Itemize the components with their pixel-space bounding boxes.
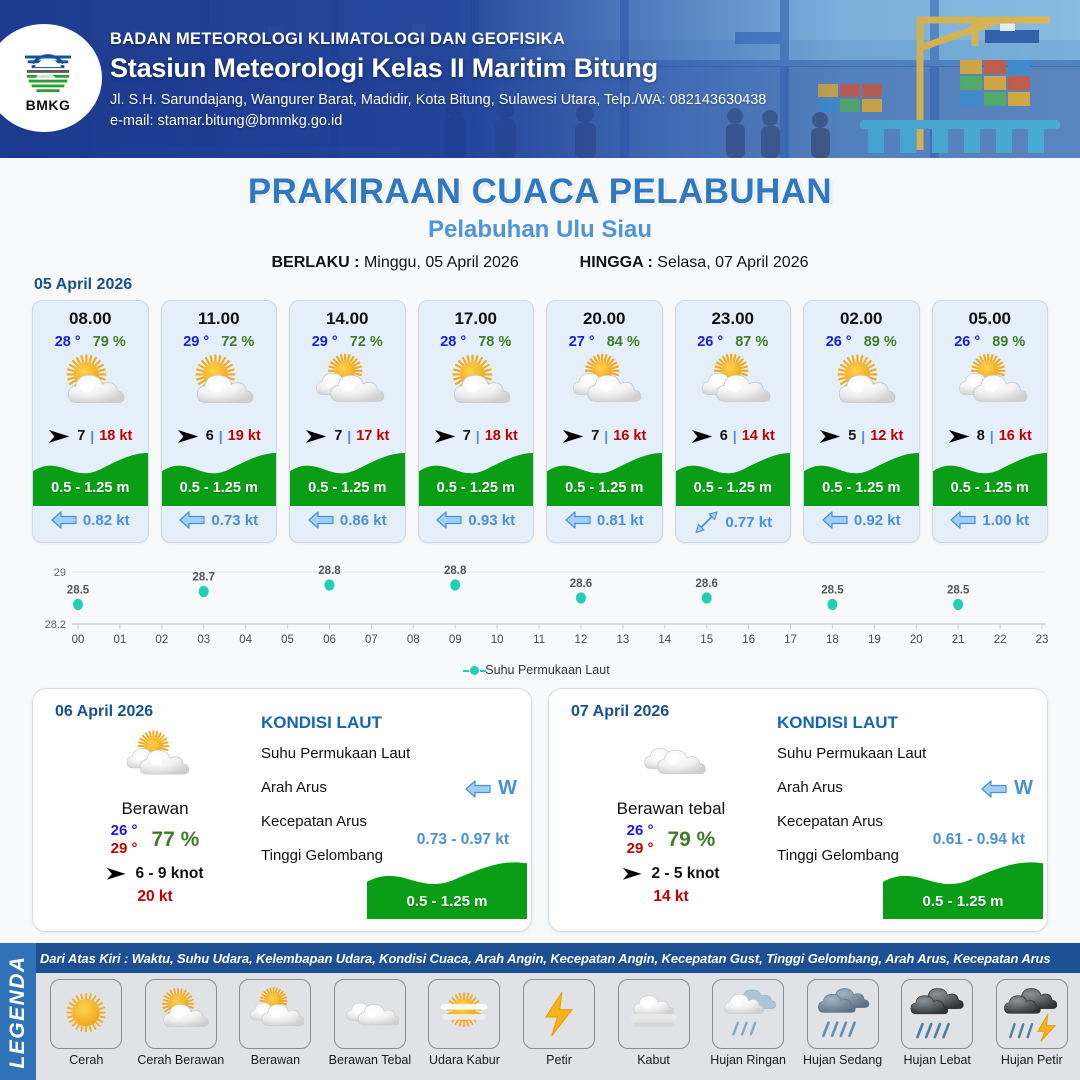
legend-icon-box <box>996 979 1068 1049</box>
card-wind-separator: | <box>347 428 351 444</box>
card-weather-icon <box>933 352 1048 422</box>
page-subtitle: Pelabuhan Ulu Siau <box>0 216 1080 244</box>
hujan-sedang-icon <box>814 985 872 1043</box>
legend-item[interactable]: Cerah <box>40 979 133 1080</box>
card-humidity: 72 % <box>350 334 383 350</box>
legend-icon-box <box>901 979 973 1049</box>
card-wave-block: 0.5 - 1.25 m <box>933 448 1048 506</box>
wind-direction-arrow-icon <box>305 429 329 444</box>
page-header: BMKG BADAN METEOROLOGI KLIMATOLOGI DAN G… <box>0 0 1080 158</box>
card-current-speed: 0.82 kt <box>83 512 130 529</box>
legend-icon-box <box>618 979 690 1049</box>
cerah-berawan-icon <box>822 351 900 423</box>
legend-item[interactable]: Hujan Sedang <box>796 979 889 1080</box>
panel-gust-speed: 14 kt <box>571 888 771 906</box>
infographic-page: BMKG BADAN METEOROLOGI KLIMATOLOGI DAN G… <box>0 0 1080 1080</box>
svg-text:21: 21 <box>952 634 965 646</box>
hourly-card[interactable]: 20.00 27 ° 84 % 7 | 16 kt <box>546 300 663 543</box>
legend-item[interactable]: Hujan Lebat <box>891 979 984 1080</box>
card-time: 23.00 <box>676 301 791 329</box>
panel-wave-block: 0.5 - 1.25 m <box>883 857 1043 919</box>
svg-text:12: 12 <box>575 634 588 646</box>
panel-wind-row: 6 - 9 knot <box>55 865 255 883</box>
card-wave-height: 0.5 - 1.25 m <box>676 480 791 496</box>
daily-forecast-panel[interactable]: 07 April 2026 Berawan tebal 26 ° 29 ° <box>548 688 1048 932</box>
svg-text:08: 08 <box>407 634 420 646</box>
legend-item[interactable]: Berawan Tebal <box>324 979 417 1080</box>
hourly-card[interactable]: 11.00 29 ° 72 % 6 | 19 kt <box>161 300 278 543</box>
svg-text:10: 10 <box>491 634 504 646</box>
card-wind-direction: 8 <box>977 428 985 444</box>
svg-text:28.8: 28.8 <box>318 565 341 577</box>
card-weather-icon <box>33 352 148 422</box>
card-wave-height: 0.5 - 1.25 m <box>933 480 1048 496</box>
card-current-row: 1.00 kt <box>933 506 1048 538</box>
sea-condition-label: Suhu Permukaan Laut <box>777 745 926 762</box>
legend-item-label: Cerah Berawan <box>137 1053 224 1067</box>
legend-item-label: Berawan Tebal <box>329 1053 411 1067</box>
card-wind-row: 5 | 12 kt <box>804 422 919 448</box>
legend-item[interactable]: Petir <box>513 979 606 1080</box>
cerah-berawan-icon <box>437 351 515 423</box>
title-block: PRAKIRAAN CUACA PELABUHAN Pelabuhan Ulu … <box>0 158 1080 272</box>
card-wave-block: 0.5 - 1.25 m <box>162 448 277 506</box>
card-weather-icon <box>162 352 277 422</box>
card-wind-separator: | <box>733 428 737 444</box>
west-arrow-icon <box>981 780 1007 798</box>
legend-item-label: Kabut <box>637 1053 670 1067</box>
cerah-berawan-icon <box>51 351 129 423</box>
west-arrow-icon <box>950 511 976 529</box>
valid-from-value: Minggu, 05 April 2026 <box>364 254 519 271</box>
svg-text:28.5: 28.5 <box>821 585 844 597</box>
sea-conditions-heading: KONDISI LAUT <box>777 713 1039 733</box>
station-name: Stasiun Meteorologi Kelas II Maritim Bit… <box>110 53 766 84</box>
cerah-berawan-icon <box>152 985 210 1043</box>
panel-wind-speed: 6 - 9 knot <box>135 865 203 883</box>
hourly-card[interactable]: 02.00 26 ° 89 % 5 | 12 kt <box>803 300 920 543</box>
petir-icon <box>530 985 588 1043</box>
daily-forecast-panel[interactable]: 06 April 2026 Berawan 26 ° 29 ° <box>32 688 532 932</box>
card-wind-speed: 18 kt <box>485 428 518 444</box>
card-humidity: 78 % <box>478 334 511 350</box>
berawan-icon <box>694 351 772 423</box>
panel-condition: Berawan <box>55 799 255 819</box>
card-humidity: 89 % <box>864 334 897 350</box>
wave-height-graphic <box>804 448 920 506</box>
card-wind-direction: 6 <box>206 428 214 444</box>
agency-name: BADAN METEOROLOGI KLIMATOLOGI DAN GEOFIS… <box>110 30 766 49</box>
card-temperature: 28 ° <box>440 334 466 350</box>
svg-text:14: 14 <box>658 634 671 646</box>
card-temperature: 29 ° <box>312 334 338 350</box>
svg-text:03: 03 <box>197 634 210 646</box>
panel-weather-icon <box>55 729 255 793</box>
wind-direction-arrow-icon <box>819 429 843 444</box>
station-email: e-mail: stamar.bitung@bmmkg.go.id <box>110 113 766 129</box>
card-wave-block: 0.5 - 1.25 m <box>290 448 405 506</box>
card-wind-row: 8 | 16 kt <box>933 422 1048 448</box>
card-humidity: 84 % <box>607 334 640 350</box>
west-arrow-icon <box>465 780 491 798</box>
svg-text:04: 04 <box>239 634 252 646</box>
header-text-block: BADAN METEOROLOGI KLIMATOLOGI DAN GEOFIS… <box>110 30 766 129</box>
panel-condition: Berawan tebal <box>571 799 771 819</box>
berawan-icon <box>119 728 191 794</box>
panel-date: 06 April 2026 <box>55 703 153 721</box>
valid-from-label: BERLAKU : <box>272 254 360 271</box>
berawan-icon <box>246 985 304 1043</box>
panel-wind-row: 2 - 5 knot <box>571 865 771 883</box>
hourly-forecast-strip: 08.00 28 ° 79 % 7 | 18 kt <box>32 300 1048 543</box>
current-direction-value: W <box>465 777 517 800</box>
svg-text:16: 16 <box>742 634 755 646</box>
panel-temp-min: 26 ° <box>111 822 138 839</box>
card-current-speed: 0.86 kt <box>340 512 387 529</box>
card-wind-row: 7 | 16 kt <box>547 422 662 448</box>
panel-sea-conditions: KONDISI LAUT Suhu Permukaan Laut Arah Ar… <box>261 713 523 869</box>
hujan-lebat-icon <box>908 985 966 1043</box>
card-wind-speed: 18 kt <box>99 428 132 444</box>
svg-text:18: 18 <box>826 634 839 646</box>
card-temperature: 28 ° <box>55 334 81 350</box>
card-humidity: 87 % <box>735 334 768 350</box>
card-humidity: 89 % <box>992 334 1025 350</box>
card-wave-height: 0.5 - 1.25 m <box>162 480 277 496</box>
card-wind-row: 6 | 14 kt <box>676 422 791 448</box>
legend-item-label: Udara Kabur <box>429 1053 500 1067</box>
card-wind-speed: 12 kt <box>870 428 903 444</box>
west-arrow-icon <box>308 511 334 529</box>
legend-item-label: Hujan Sedang <box>803 1053 882 1067</box>
card-wave-height: 0.5 - 1.25 m <box>33 480 148 496</box>
southwest-arrow-icon <box>693 511 719 533</box>
card-wind-row: 7 | 18 kt <box>33 422 148 448</box>
card-time: 17.00 <box>419 301 534 329</box>
sea-condition-label: Arah Arus <box>777 779 843 796</box>
wind-direction-arrow-icon <box>948 429 972 444</box>
wave-height-graphic <box>33 448 149 506</box>
card-time: 14.00 <box>290 301 405 329</box>
chart-legend-label: Suhu Permukaan Laut <box>485 663 609 677</box>
legend-note: Dari Atas Kiri : Waktu, Suhu Udara, Kele… <box>40 951 1076 966</box>
wave-height-graphic <box>162 448 278 506</box>
svg-text:15: 15 <box>700 634 713 646</box>
svg-text:28.8: 28.8 <box>444 565 467 577</box>
card-wind-direction: 6 <box>720 428 728 444</box>
sea-condition-label: Suhu Permukaan Laut <box>261 745 410 762</box>
card-wind-speed: 14 kt <box>742 428 775 444</box>
bmkg-logo-mark <box>19 44 77 96</box>
svg-text:13: 13 <box>616 634 629 646</box>
card-current-speed: 0.92 kt <box>854 512 901 529</box>
card-wind-row: 6 | 19 kt <box>162 422 277 448</box>
card-current-row: 0.82 kt <box>33 506 148 538</box>
card-current-speed: 0.81 kt <box>597 512 644 529</box>
card-wind-separator: | <box>861 428 865 444</box>
panel-wave-height: 0.5 - 1.25 m <box>883 893 1043 910</box>
card-temperature: 26 ° <box>826 334 852 350</box>
card-wave-height: 0.5 - 1.25 m <box>547 480 662 496</box>
panel-wave-height: 0.5 - 1.25 m <box>367 893 527 910</box>
card-wind-row: 7 | 18 kt <box>419 422 534 448</box>
wind-direction-arrow-icon <box>434 429 458 444</box>
page-title: PRAKIRAAN CUACA PELABUHAN <box>0 172 1080 212</box>
legend-icon-box <box>50 979 122 1049</box>
sea-condition-label: Kecepatan Arus <box>777 813 883 830</box>
card-wind-speed: 19 kt <box>228 428 261 444</box>
card-temperature: 27 ° <box>569 334 595 350</box>
current-direction-label: W <box>1014 777 1033 800</box>
cerah-berawan-icon <box>180 351 258 423</box>
card-time: 02.00 <box>804 301 919 329</box>
panel-temp-max: 29 ° <box>627 840 654 857</box>
legend-footer: LEGENDA Dari Atas Kiri : Waktu, Suhu Uda… <box>0 943 1080 1080</box>
card-weather-icon <box>676 352 791 422</box>
wind-direction-arrow-icon <box>48 429 72 444</box>
udara-kabur-icon <box>435 985 493 1043</box>
sea-condition-label: Tinggi Gelombang <box>261 847 383 864</box>
kabut-icon <box>625 985 683 1043</box>
card-time: 05.00 <box>933 301 1048 329</box>
hujan-ringan-icon <box>719 985 777 1043</box>
legend-item-label: Hujan Ringan <box>710 1053 786 1067</box>
legend-tab-label: LEGENDA <box>6 955 30 1068</box>
card-wind-speed: 16 kt <box>613 428 646 444</box>
svg-text:09: 09 <box>449 634 462 646</box>
west-arrow-icon <box>51 511 77 529</box>
panel-temps: 26 ° 29 ° 79 % <box>571 822 771 857</box>
svg-text:28.6: 28.6 <box>696 578 718 590</box>
card-weather-icon <box>290 352 405 422</box>
card-humidity: 72 % <box>221 334 254 350</box>
card-wave-height: 0.5 - 1.25 m <box>290 480 405 496</box>
legend-icon-box <box>239 979 311 1049</box>
card-wave-block: 0.5 - 1.25 m <box>547 448 662 506</box>
card-current-row: 0.93 kt <box>419 506 534 538</box>
card-temperature: 26 ° <box>954 334 980 350</box>
sea-condition-row: Arah Arus W <box>777 779 1039 801</box>
sea-condition-row: Arah Arus W <box>261 779 523 801</box>
cerah-icon <box>57 985 115 1043</box>
card-wind-direction: 7 <box>463 428 471 444</box>
card-wave-height: 0.5 - 1.25 m <box>804 480 919 496</box>
card-wind-speed: 16 kt <box>999 428 1032 444</box>
card-temperature: 29 ° <box>183 334 209 350</box>
card-wind-direction: 5 <box>848 428 856 444</box>
legend-item[interactable]: Cerah Berawan <box>135 979 228 1080</box>
berawan-tebal-icon <box>341 985 399 1043</box>
svg-text:17: 17 <box>784 634 797 646</box>
wave-height-graphic <box>290 448 406 506</box>
panel-humidity: 79 % <box>667 828 715 852</box>
wind-direction-arrow-icon <box>177 429 201 444</box>
svg-text:00: 00 <box>72 634 85 646</box>
wind-direction-arrow-icon <box>106 867 128 881</box>
card-weather-icon <box>547 352 662 422</box>
sea-conditions-heading: KONDISI LAUT <box>261 713 523 733</box>
hourly-card[interactable]: 05.00 26 ° 89 % 8 | 16 kt <box>932 300 1049 543</box>
card-temperature: 26 ° <box>697 334 723 350</box>
card-wind-separator: | <box>604 428 608 444</box>
berawan-icon <box>308 351 386 423</box>
legend-item-label: Cerah <box>69 1053 103 1067</box>
svg-text:22: 22 <box>994 634 1007 646</box>
valid-until-value: Selasa, 07 April 2026 <box>657 254 808 271</box>
current-direction-value: W <box>981 777 1033 800</box>
svg-text:01: 01 <box>114 634 127 646</box>
legend-item[interactable]: Hujan Ringan <box>702 979 795 1080</box>
legend-icon-strip: Cerah Cerah Berawan <box>36 973 1080 1080</box>
svg-text:28.5: 28.5 <box>67 585 90 597</box>
card-wind-row: 7 | 17 kt <box>290 422 405 448</box>
legend-icon-box <box>523 979 595 1049</box>
wind-direction-arrow-icon <box>562 429 586 444</box>
card-current-row: 0.92 kt <box>804 506 919 538</box>
valid-until-label: HINGGA : <box>580 254 653 271</box>
card-time: 11.00 <box>162 301 277 329</box>
hourly-card[interactable]: 17.00 28 ° 78 % 7 | 18 kt <box>418 300 535 543</box>
daily-forecast-panels: 06 April 2026 Berawan 26 ° 29 ° <box>32 688 1048 932</box>
card-wind-speed: 17 kt <box>356 428 389 444</box>
wave-height-graphic <box>676 448 792 506</box>
wave-height-graphic <box>419 448 535 506</box>
legend-item[interactable]: Udara Kabur <box>418 979 511 1080</box>
svg-text:28.6: 28.6 <box>570 578 592 590</box>
panel-temp-min: 26 ° <box>627 822 654 839</box>
sea-condition-label: Tinggi Gelombang <box>777 847 899 864</box>
sea-condition-label: Arah Arus <box>261 779 327 796</box>
legend-icon-box <box>712 979 784 1049</box>
card-wave-block: 0.5 - 1.25 m <box>419 448 534 506</box>
card-wave-block: 0.5 - 1.25 m <box>33 448 148 506</box>
panel-temps: 26 ° 29 ° 77 % <box>55 822 255 857</box>
svg-text:28.2: 28.2 <box>45 619 66 631</box>
card-wind-separator: | <box>219 428 223 444</box>
chart-legend: Suhu Permukaan Laut <box>0 663 1080 677</box>
panel-temp-max: 29 ° <box>111 840 138 857</box>
card-wave-block: 0.5 - 1.25 m <box>676 448 791 506</box>
svg-text:02: 02 <box>155 634 168 646</box>
card-weather-icon <box>804 352 919 422</box>
chart-legend-marker-icon <box>470 666 479 675</box>
svg-text:11: 11 <box>533 634 545 646</box>
svg-text:28.7: 28.7 <box>193 572 215 584</box>
svg-text:20: 20 <box>910 634 923 646</box>
hujan-petir-icon <box>1003 985 1061 1043</box>
west-arrow-icon <box>565 511 591 529</box>
legend-icon-box <box>334 979 406 1049</box>
svg-text:07: 07 <box>365 634 378 646</box>
card-wave-block: 0.5 - 1.25 m <box>804 448 919 506</box>
legend-item-label: Petir <box>546 1053 572 1067</box>
wind-direction-arrow-icon <box>691 429 715 444</box>
card-current-speed: 1.00 kt <box>982 512 1029 529</box>
card-wind-direction: 7 <box>77 428 85 444</box>
panel-weather-block: Berawan tebal 26 ° 29 ° 79 % 2 - 5 knot … <box>571 729 771 906</box>
sea-condition-row: Kecepatan Arus 0.61 - 0.94 kt <box>777 813 1039 835</box>
panel-humidity: 77 % <box>151 828 199 852</box>
legend-icon-box <box>807 979 879 1049</box>
panel-sea-conditions: KONDISI LAUT Suhu Permukaan Laut Arah Ar… <box>777 713 1039 869</box>
panel-weather-icon <box>571 729 771 793</box>
card-current-row: 0.77 kt <box>676 506 791 542</box>
svg-text:06: 06 <box>323 634 336 646</box>
card-current-speed: 0.93 kt <box>468 512 515 529</box>
card-current-speed: 0.73 kt <box>211 512 258 529</box>
legend-tab: LEGENDA <box>0 943 36 1080</box>
sea-condition-row: Suhu Permukaan Laut <box>777 745 1039 767</box>
card-wind-separator: | <box>990 428 994 444</box>
hourly-card[interactable]: 14.00 29 ° 72 % 7 | 17 kt <box>289 300 406 543</box>
hourly-date-label: 05 April 2026 <box>34 276 132 294</box>
wind-direction-arrow-icon <box>622 867 644 881</box>
card-current-row: 0.81 kt <box>547 506 662 538</box>
card-wind-separator: | <box>476 428 480 444</box>
svg-text:23: 23 <box>1036 634 1048 646</box>
legend-item[interactable]: Hujan Petir <box>985 979 1078 1080</box>
legend-icon-box <box>428 979 500 1049</box>
sea-condition-row: Suhu Permukaan Laut <box>261 745 523 767</box>
sea-condition-label: Kecepatan Arus <box>261 813 367 830</box>
card-wind-separator: | <box>90 428 94 444</box>
current-direction-label: W <box>498 777 517 800</box>
card-time: 08.00 <box>33 301 148 329</box>
berawan-icon <box>951 351 1029 423</box>
bmkg-logo-text: BMKG <box>26 97 71 113</box>
legend-icon-box <box>145 979 217 1049</box>
wave-height-graphic <box>933 448 1049 506</box>
card-weather-icon <box>419 352 534 422</box>
berawan-icon <box>565 351 643 423</box>
panel-gust-speed: 20 kt <box>55 888 255 906</box>
svg-text:05: 05 <box>281 634 294 646</box>
card-current-speed: 0.77 kt <box>725 514 772 531</box>
berawan-tebal-icon <box>635 728 707 794</box>
card-current-row: 0.86 kt <box>290 506 405 538</box>
west-arrow-icon <box>822 511 848 529</box>
station-address: Jl. S.H. Sarundajang, Wangurer Barat, Ma… <box>110 92 766 108</box>
svg-text:19: 19 <box>868 634 881 646</box>
wave-height-graphic <box>547 448 663 506</box>
legend-item-label: Hujan Petir <box>1001 1053 1063 1067</box>
card-time: 20.00 <box>547 301 662 329</box>
west-arrow-icon <box>179 511 205 529</box>
panel-date: 07 April 2026 <box>571 703 669 721</box>
panel-wind-speed: 2 - 5 knot <box>651 865 719 883</box>
card-humidity: 79 % <box>93 334 126 350</box>
validity-range: BERLAKU : Minggu, 05 April 2026 HINGGA :… <box>0 254 1080 272</box>
legend-item[interactable]: Kabut <box>607 979 700 1080</box>
panel-weather-block: Berawan 26 ° 29 ° 77 % 6 - 9 knot 20 kt <box>55 729 255 906</box>
card-current-row: 0.73 kt <box>162 506 277 538</box>
west-arrow-icon <box>436 511 462 529</box>
svg-text:29: 29 <box>54 567 66 579</box>
sst-chart: 2928.20001020304050607080910111213141516… <box>32 560 1048 650</box>
hourly-card[interactable]: 08.00 28 ° 79 % 7 | 18 kt <box>32 300 149 543</box>
legend-item-label: Hujan Lebat <box>903 1053 970 1067</box>
card-wind-direction: 7 <box>591 428 599 444</box>
card-wave-height: 0.5 - 1.25 m <box>419 480 534 496</box>
card-wind-direction: 7 <box>334 428 342 444</box>
hourly-card[interactable]: 23.00 26 ° 87 % 6 | 14 kt <box>675 300 792 543</box>
legend-item-label: Berawan <box>251 1053 300 1067</box>
svg-text:28.5: 28.5 <box>947 585 970 597</box>
legend-item[interactable]: Berawan <box>229 979 322 1080</box>
panel-wave-block: 0.5 - 1.25 m <box>367 857 527 919</box>
sea-condition-row: Kecepatan Arus 0.73 - 0.97 kt <box>261 813 523 835</box>
